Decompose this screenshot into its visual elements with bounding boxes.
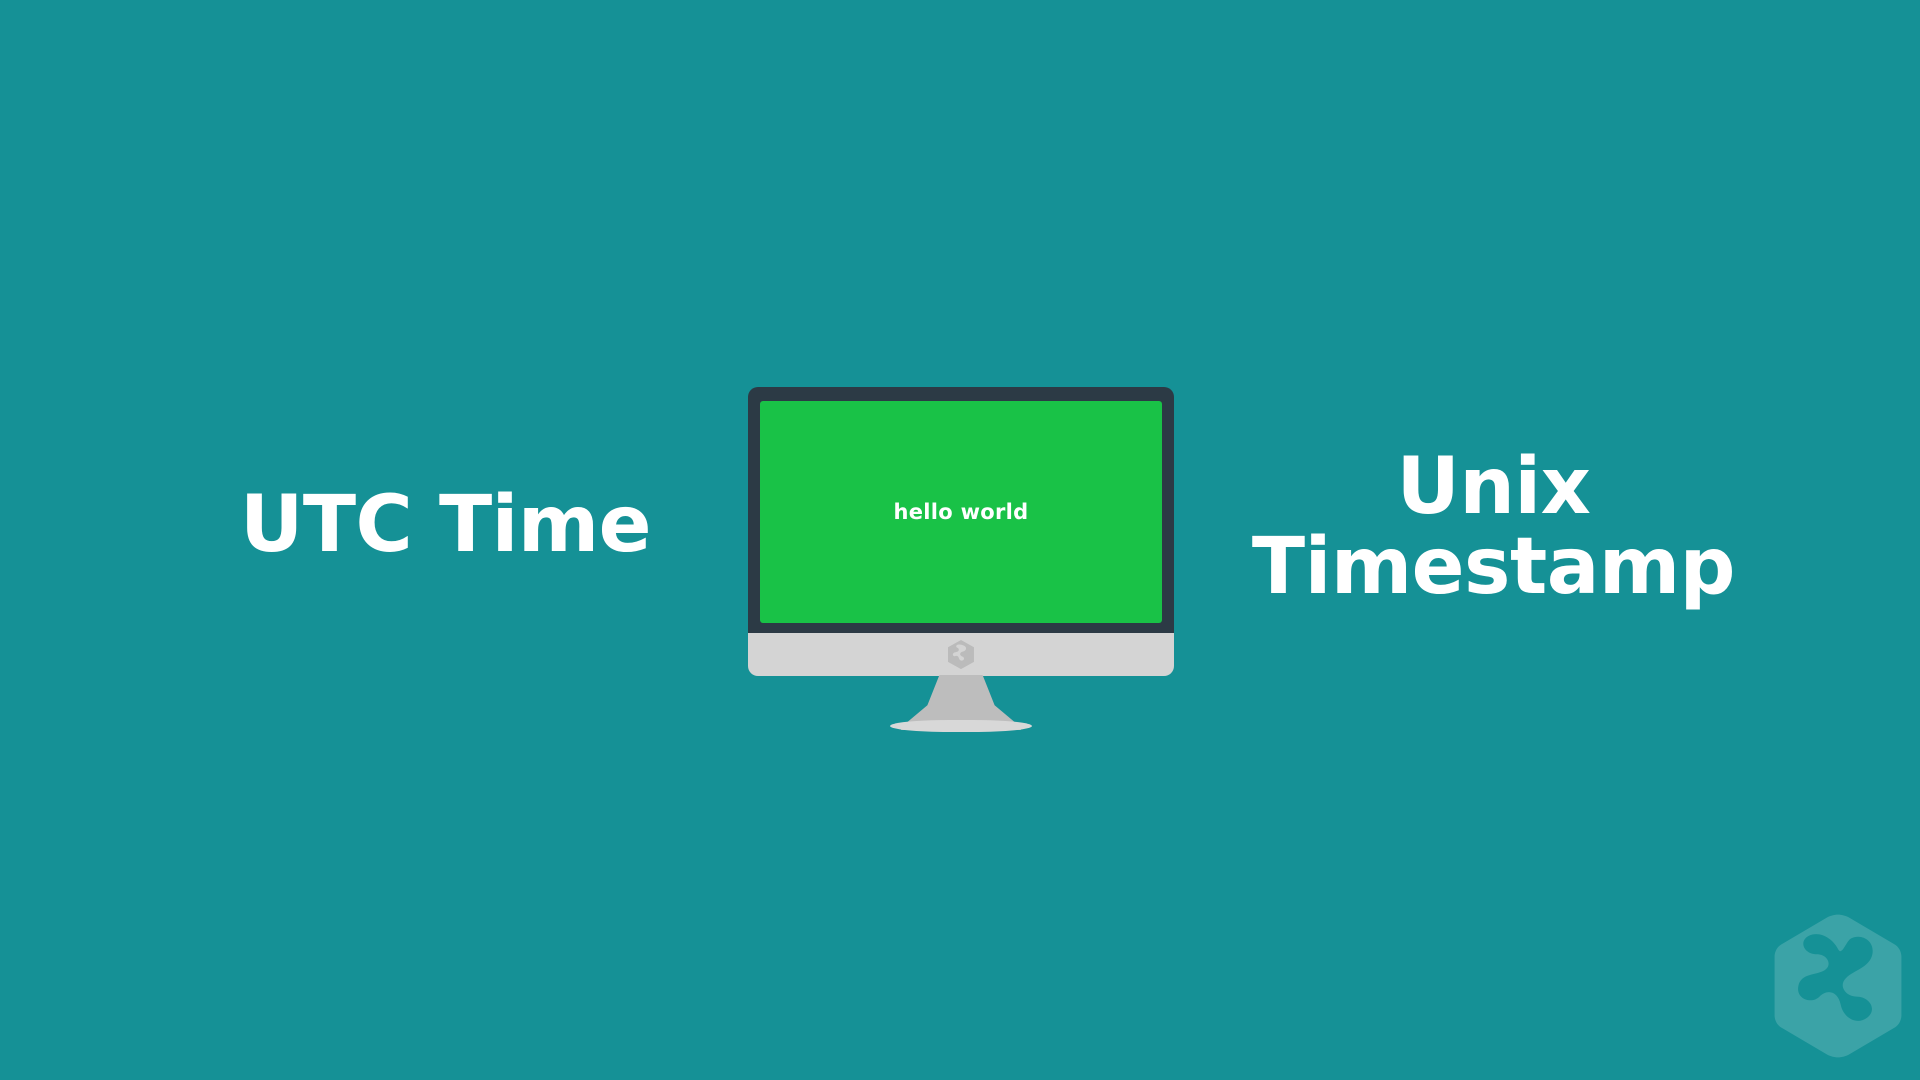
monitor-chin (748, 633, 1174, 676)
screen-output-text: hello world (893, 500, 1028, 524)
monitor-base (890, 720, 1032, 732)
exercism-hexagon-logo (1764, 912, 1912, 1060)
monitor-screen: hello world (760, 401, 1162, 623)
illustration-canvas: UTC Time hello world Unix Timestamp (0, 0, 1920, 1080)
left-heading: UTC Time (240, 486, 651, 566)
monitor-bezel: hello world (748, 387, 1174, 635)
right-heading: Unix Timestamp (1252, 448, 1735, 607)
exercism-hexagon-icon (948, 640, 974, 669)
monitor-illustration: hello world (748, 387, 1174, 687)
